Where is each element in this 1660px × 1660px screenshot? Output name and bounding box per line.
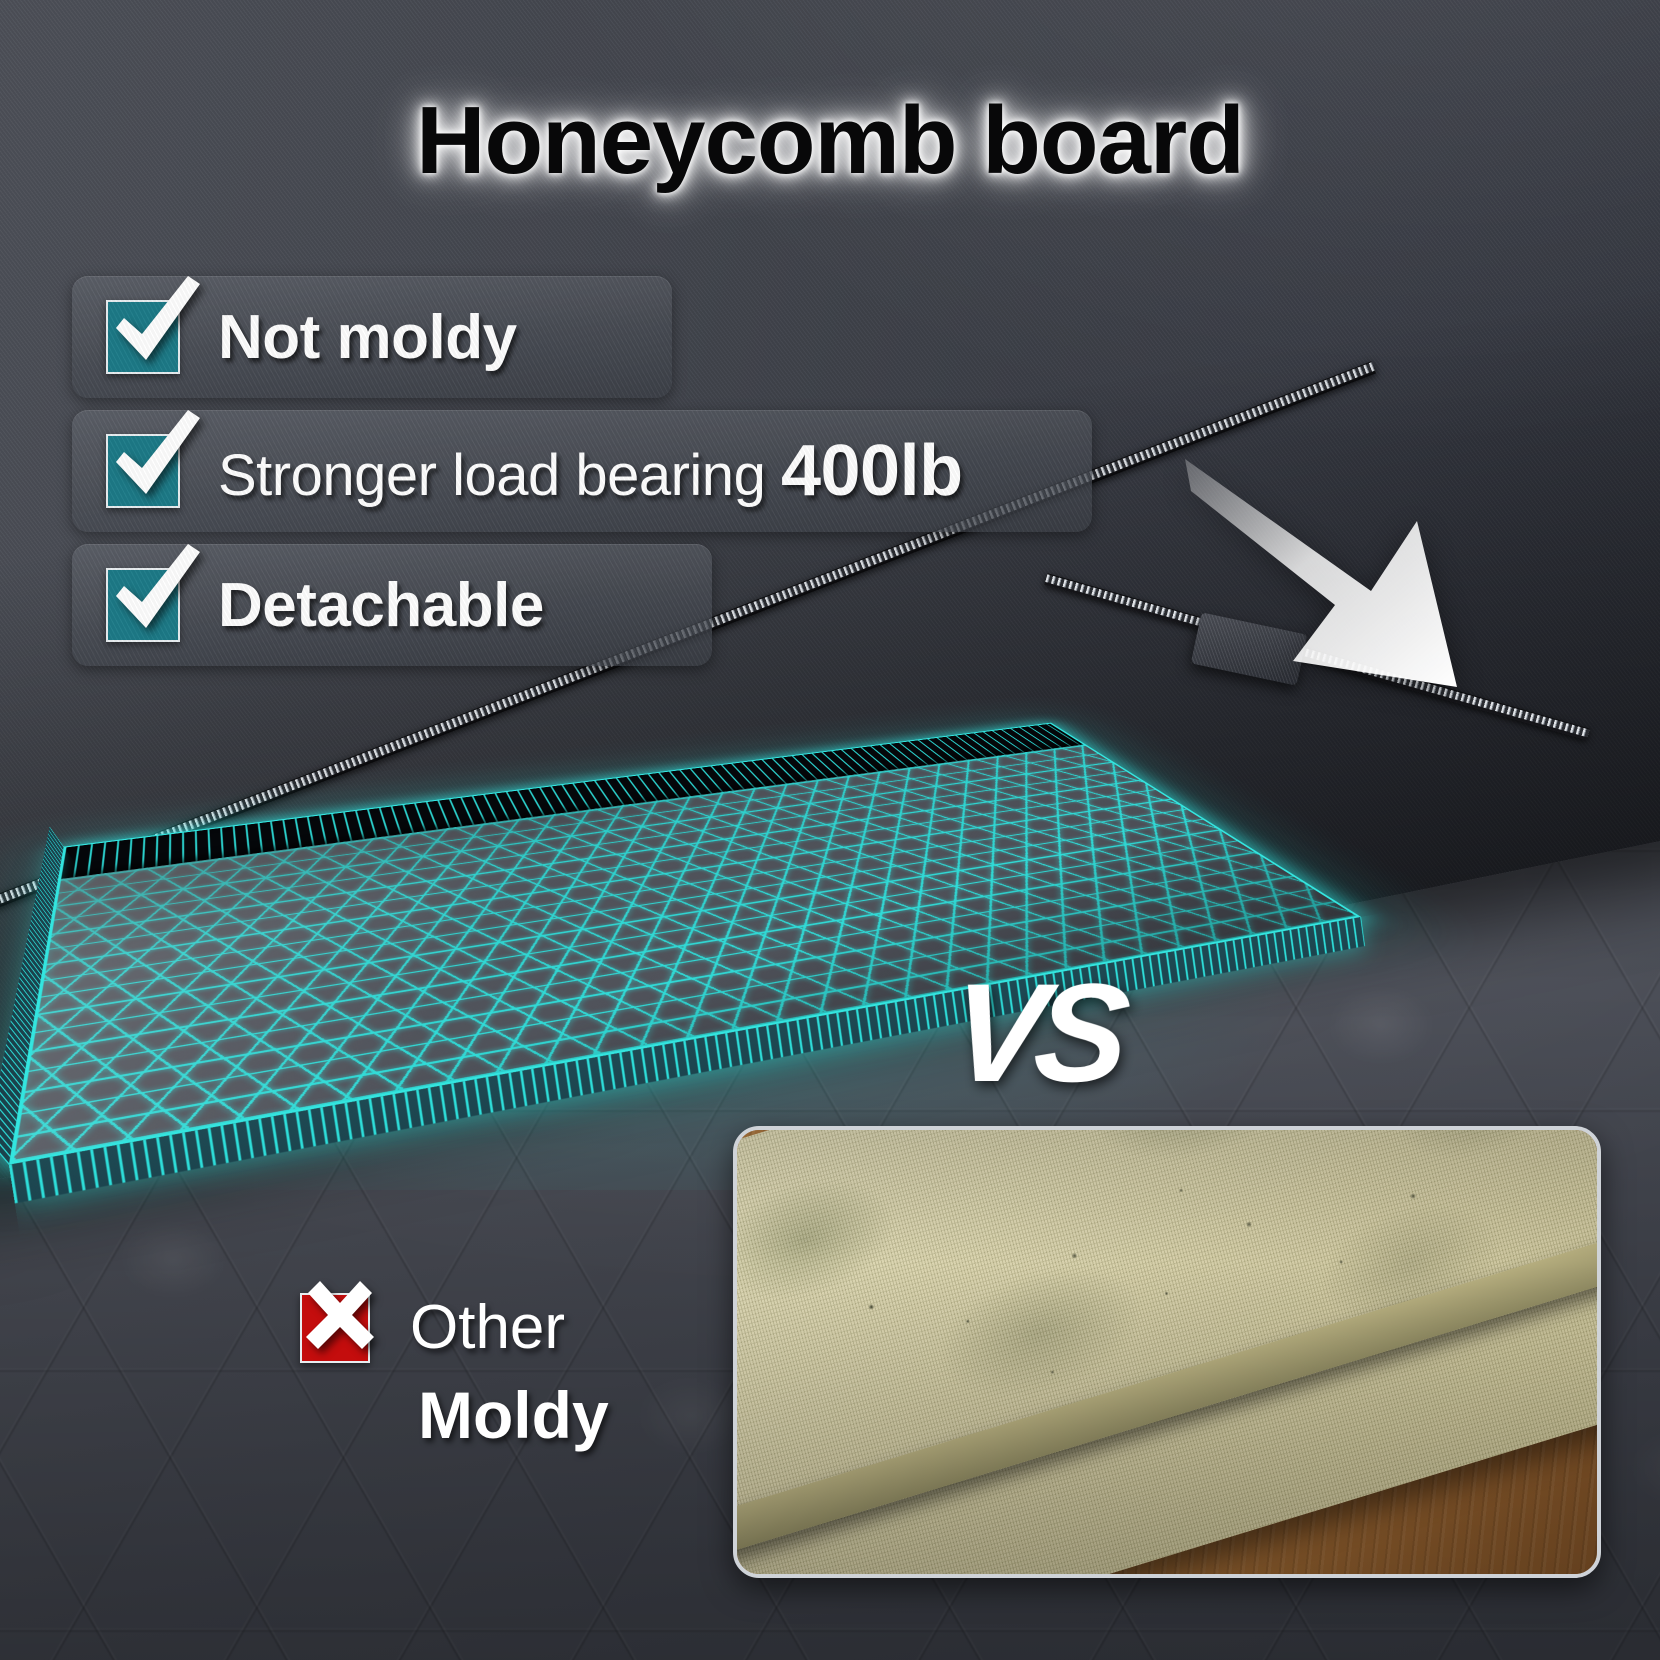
product-infographic: Honeycomb board Not moldy Stronger load … — [0, 0, 1660, 1660]
other-label: Other — [410, 1292, 565, 1363]
negative-comparison-block: Other Moldy — [300, 1292, 720, 1453]
other-row: Other — [300, 1292, 720, 1363]
feature-item-not-moldy[interactable]: Not moldy — [72, 276, 672, 398]
feature-list: Not moldy Stronger load bearing 400lb De… — [72, 276, 1092, 666]
feature-label: Detachable — [218, 570, 544, 641]
page-title: Honeycomb board — [0, 86, 1660, 196]
cross-icon — [300, 1293, 370, 1363]
feature-item-load-bearing[interactable]: Stronger load bearing 400lb — [72, 410, 1092, 532]
feature-label-text: Stronger load bearing — [218, 443, 781, 508]
feature-item-detachable[interactable]: Detachable — [72, 544, 712, 666]
versus-badge: VS — [945, 952, 1126, 1114]
moldy-label: Moldy — [418, 1377, 720, 1453]
feature-label-emphasis: 400lb — [781, 431, 963, 511]
check-icon — [106, 300, 180, 374]
feature-label: Stronger load bearing 400lb — [218, 430, 963, 512]
check-icon — [106, 434, 180, 508]
photo-vignette — [737, 1130, 1597, 1574]
board-face — [9, 723, 1361, 1165]
arrow-down-right-icon — [1185, 455, 1485, 700]
check-icon — [106, 568, 180, 642]
feature-label: Not moldy — [218, 302, 517, 373]
moldy-board-photo — [733, 1126, 1601, 1578]
honeycomb-board-graphic — [90, 600, 1320, 1180]
